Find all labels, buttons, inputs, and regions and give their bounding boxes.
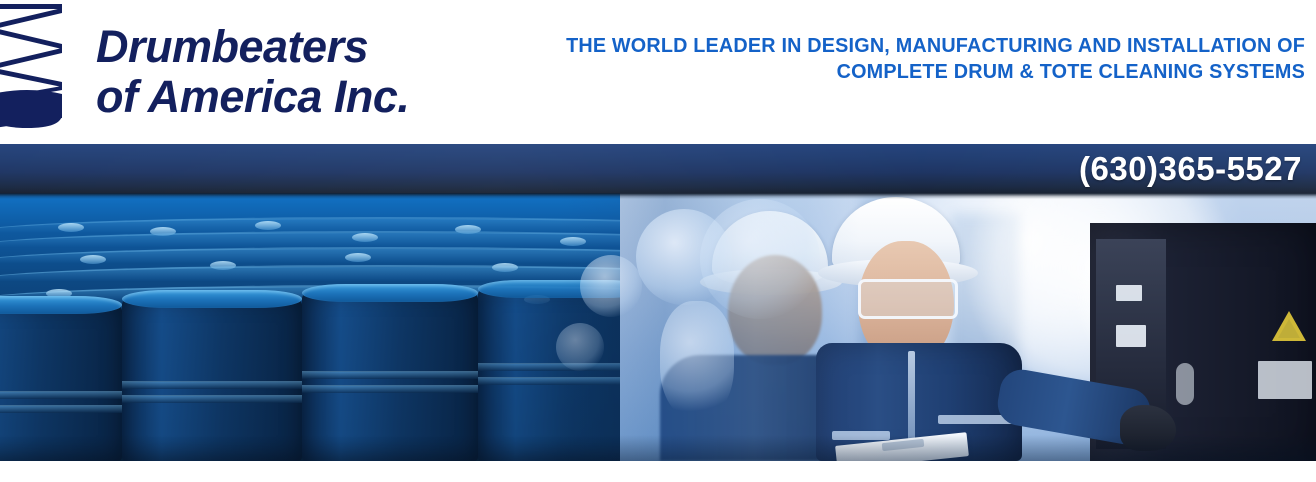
hero-workers-photo: [620, 193, 1316, 461]
logo-line-1: Drumbeaters: [96, 22, 426, 72]
phone-number[interactable]: (630)365-5527: [1079, 149, 1302, 189]
company-logo-text[interactable]: Drumbeaters of America Inc.: [96, 22, 426, 122]
navigation-bar: (630)365-5527: [0, 144, 1316, 193]
company-tagline: THE WORLD LEADER IN DESIGN, MANUFACTURIN…: [475, 33, 1305, 85]
logo-line-2: of America Inc.: [96, 72, 426, 122]
hero-top-shadow: [0, 193, 1316, 199]
tagline-line-1: THE WORLD LEADER IN DESIGN, MANUFACTURIN…: [475, 33, 1305, 59]
site-header: Drumbeaters of America Inc. THE WORLD LE…: [0, 0, 1316, 144]
page-root: Drumbeaters of America Inc. THE WORLD LE…: [0, 0, 1316, 482]
page-bottom-strip: [0, 461, 1316, 482]
tagline-line-2: COMPLETE DRUM & TOTE CLEANING SYSTEMS: [475, 59, 1305, 85]
drum-spring-logo-icon[interactable]: [0, 2, 74, 130]
safety-goggles-icon: [858, 279, 958, 319]
hero-bottom-shadow: [0, 435, 1316, 461]
hero-image: [0, 193, 1316, 461]
hero-banner: [0, 193, 1316, 461]
warning-triangle-icon: [1272, 311, 1306, 341]
